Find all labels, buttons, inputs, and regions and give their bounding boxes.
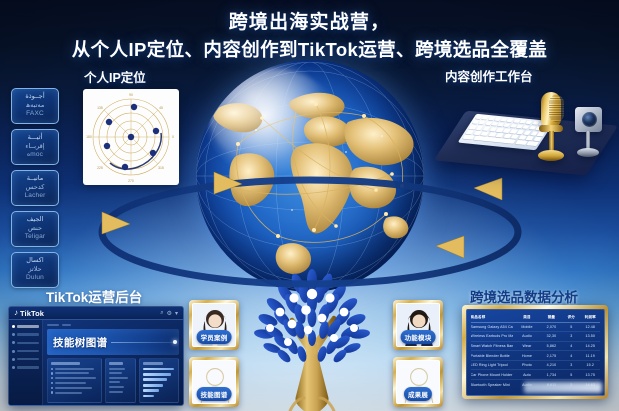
polar-chart: 90 0 270 180 45 315 225 135 <box>83 89 179 185</box>
badge-line-2: إقربــاء <box>25 143 44 152</box>
ip-positioning-chart-card: 90 0 270 180 45 315 225 135 <box>83 89 179 185</box>
hero-progress-thumb[interactable] <box>173 340 177 344</box>
chevron-down-icon[interactable]: ▾ <box>175 310 178 317</box>
table-row[interactable]: Wireless Earbuds Pro Max Audio 32,30 3 1… <box>471 332 600 342</box>
cell-sales: 4,210 <box>541 363 561 367</box>
cell-margin: 11.19 <box>581 354 600 358</box>
hero-banner: 技能树图谱 <box>47 329 179 355</box>
table-row[interactable]: Car Phone Mount Holder Auto 1,734 5 13.7… <box>471 370 600 380</box>
title-line-2: 从个人IP定位、内容创作到TikTok运营、跨境选品全覆盖 <box>0 38 619 62</box>
camera-icon <box>573 107 603 164</box>
portrait-card-feature-module[interactable]: 功能模块 <box>393 300 443 350</box>
metric-row <box>109 377 133 379</box>
badge-line-3: FAXC <box>26 110 44 119</box>
badge-line-1: أثيـــة <box>28 134 43 143</box>
cell-margin: 14.25 <box>581 344 600 348</box>
badge-card: اكسال حلاتز Dulun <box>11 252 59 288</box>
camera-body <box>575 107 602 132</box>
poster-canvas: 跨境出海实战营， 从个人IP定位、内容创作到TikTok运营、跨境选品全覆盖 个… <box>0 0 619 411</box>
section-label-content-studio: 内容创作工作台 <box>445 66 533 85</box>
cell-category: Home <box>516 354 539 358</box>
portrait-card-label: 成果展 <box>404 387 432 400</box>
portrait-frame: 学员案例 <box>192 303 236 347</box>
badge-line-2: حلاتز <box>28 266 41 275</box>
dashboard-panels <box>47 358 179 403</box>
cell-rating: 4 <box>565 344 578 348</box>
portrait-card-label: 学员案例 <box>197 330 232 343</box>
table-row[interactable]: Portable Blender Bottle Home 2,175 4 11.… <box>471 351 600 361</box>
globe-sphere <box>196 60 424 292</box>
hero-title: 技能树图谱 <box>53 335 108 350</box>
badge-line-1: أجــوذة <box>25 93 44 102</box>
svg-text:225: 225 <box>97 166 103 170</box>
portrait-card-skill-map[interactable]: 技能图谱 <box>189 357 239 407</box>
cell-sales: 5,862 <box>541 344 561 348</box>
svg-text:270: 270 <box>128 179 134 183</box>
brand-name: TikTok <box>20 309 44 318</box>
badge-card: الجيف حنص Teligar <box>11 211 59 247</box>
column-header: 商品名称 <box>471 315 513 320</box>
cell-category: Mobile <box>516 325 539 329</box>
globe-highlight <box>210 69 338 166</box>
cell-product: LED Ring Light Tripod <box>471 363 513 367</box>
portrait-card-label: 技能图谱 <box>197 387 232 400</box>
dashboard-body: 技能树图谱 <box>9 320 183 406</box>
cell-sales: 32,30 <box>541 334 561 338</box>
mic-grill <box>549 95 564 122</box>
metric-row <box>109 372 133 374</box>
camera-base <box>577 148 599 157</box>
badge-line-3: Dulun <box>26 274 44 283</box>
svg-text:315: 315 <box>158 166 164 170</box>
bar-chart-panel <box>139 358 179 403</box>
badge-line-1: الجيف <box>27 216 44 225</box>
breadcrumb <box>47 324 179 326</box>
mic-body <box>541 92 561 128</box>
skill-tree-graphic <box>248 268 376 411</box>
column-header: 评分 <box>565 315 578 320</box>
badge-line-2: حنص <box>28 225 42 234</box>
badge-card: أثيـــة إقربــاء ەmoc <box>11 129 59 165</box>
data-analysis-table[interactable]: 商品名称 类目 销量 评分 利润率 Samsung Galaxy A54 Cas… <box>462 305 608 399</box>
cell-product: Car Phone Mount Holder <box>471 373 513 377</box>
table-header-row: 商品名称 类目 销量 评分 利润率 <box>471 313 600 323</box>
cell-category: Wear <box>516 344 539 348</box>
svg-text:90: 90 <box>129 93 133 97</box>
badge-line-2: كدحس <box>26 184 45 193</box>
cell-rating: 4 <box>565 354 578 358</box>
tiktok-dashboard[interactable]: ♪ TikTok ⌕ ⚙ ▾ <box>8 306 184 406</box>
cell-product: Wireless Earbuds Pro Max <box>471 334 513 338</box>
title-line-1: 跨境出海实战营， <box>0 11 619 35</box>
sidebar-item[interactable] <box>12 332 39 337</box>
section-label-ip-positioning: 个人IP定位 <box>84 67 146 86</box>
portrait-card-label: 功能模块 <box>401 330 436 343</box>
globe-graphic <box>196 60 424 292</box>
music-note-icon: ♪ <box>14 309 18 317</box>
list-row <box>51 377 98 379</box>
mic-base <box>538 150 564 161</box>
badge-card: مانيــة كدحس Lacher <box>11 170 59 206</box>
metric-row <box>109 381 133 383</box>
svg-text:180: 180 <box>86 135 92 139</box>
cell-sales: 2,070 <box>541 325 561 329</box>
cell-sales: 2,175 <box>541 354 561 358</box>
section-label-data-analysis: 跨境选品数据分析 <box>470 286 578 306</box>
tiktok-logo[interactable]: ♪ TikTok <box>14 309 44 318</box>
sidebar-item[interactable] <box>12 357 39 362</box>
left-badge-stack: أجــوذة مەتبەھ FAXC أثيـــة إقربــاء ەmo… <box>11 88 61 293</box>
cell-rating: 5 <box>565 325 578 329</box>
cell-rating: 3 <box>565 334 578 338</box>
sidebar-item[interactable] <box>12 365 39 370</box>
gear-icon[interactable]: ⚙ <box>167 310 172 317</box>
cell-category: Auto <box>516 373 539 377</box>
cell-margin: 12.48 <box>581 325 600 329</box>
cell-rating: 3 <box>565 363 578 367</box>
cell-margin: 13.75 <box>581 373 600 377</box>
table-row[interactable]: Samsung Galaxy A54 Case Mobile 2,070 5 1… <box>471 323 600 333</box>
column-header: 类目 <box>516 315 539 320</box>
portrait-card-student-case[interactable]: 学员案例 <box>189 300 239 350</box>
camera-lens <box>582 112 597 127</box>
badge-line-3: Teligar <box>25 233 46 242</box>
cell-rating: 5 <box>565 373 578 377</box>
svg-text:135: 135 <box>97 106 103 110</box>
cell-sales: 1,734 <box>541 373 561 377</box>
hero-progress-track <box>111 342 174 343</box>
list-panel <box>47 358 102 403</box>
cell-product: Portable Blender Bottle <box>471 354 513 358</box>
cell-margin: 15.2 <box>581 363 600 367</box>
topbar-actions: ⌕ ⚙ ▾ <box>160 310 178 317</box>
sidebar-item[interactable] <box>12 324 39 329</box>
dashboard-main: 技能树图谱 <box>43 320 183 406</box>
metric-row <box>109 386 133 388</box>
badge-line-1: اكسال <box>26 257 43 266</box>
metric-row <box>109 391 133 393</box>
cell-category: Audio <box>516 334 539 338</box>
microphone-icon <box>536 92 566 166</box>
metric-row <box>109 368 133 370</box>
badge-line-3: Lacher <box>24 192 45 201</box>
page-title: 跨境出海实战营， 从个人IP定位、内容创作到TikTok运营、跨境选品全覆盖 <box>0 11 619 62</box>
portrait-frame: 成果展 <box>396 360 440 404</box>
table-row[interactable]: LED Ring Light Tripod Photo 4,210 3 15.2 <box>471 361 600 371</box>
column-header: 销量 <box>541 315 561 320</box>
list-row <box>51 387 98 389</box>
column-header: 利润率 <box>581 315 600 320</box>
cell-product: Bluetooth Speaker Mini <box>471 383 513 387</box>
list-row <box>51 368 98 370</box>
table-overlay-blur <box>524 382 602 393</box>
cell-product: Smart Watch Fitness Band <box>471 344 513 348</box>
cell-margin: 13.50 <box>581 334 600 338</box>
sidebar-item[interactable] <box>12 349 39 354</box>
svg-text:45: 45 <box>159 106 163 110</box>
portrait-frame: 功能模块 <box>396 303 440 347</box>
table-row[interactable]: Smart Watch Fitness Band Wear 5,862 4 14… <box>471 342 600 352</box>
cell-product: Samsung Galaxy A54 Case <box>471 325 513 329</box>
badge-line-3: ەmoc <box>27 151 43 160</box>
badge-line-1: مانيــة <box>27 175 44 184</box>
dashboard-sidebar[interactable] <box>9 320 43 406</box>
svg-text:0: 0 <box>172 135 174 139</box>
portrait-frame: 技能图谱 <box>192 360 236 404</box>
search-icon[interactable]: ⌕ <box>160 310 163 317</box>
dashboard-topbar: ♪ TikTok ⌕ ⚙ ▾ <box>9 307 183 320</box>
cell-category: Photo <box>516 363 539 367</box>
badge-line-2: مەتبەھ <box>26 102 45 111</box>
list-row <box>51 391 98 393</box>
portrait-card-achievement[interactable]: 成果展 <box>393 357 443 407</box>
content-studio-scene <box>432 78 615 190</box>
list-row <box>51 372 98 374</box>
badge-card: أجــوذة مەتبەھ FAXC <box>11 88 59 124</box>
metric-panel <box>105 358 137 403</box>
section-label-tiktok-backend: TikTok运营后台 <box>46 286 142 306</box>
list-row <box>51 382 98 384</box>
sidebar-item[interactable] <box>12 340 39 345</box>
